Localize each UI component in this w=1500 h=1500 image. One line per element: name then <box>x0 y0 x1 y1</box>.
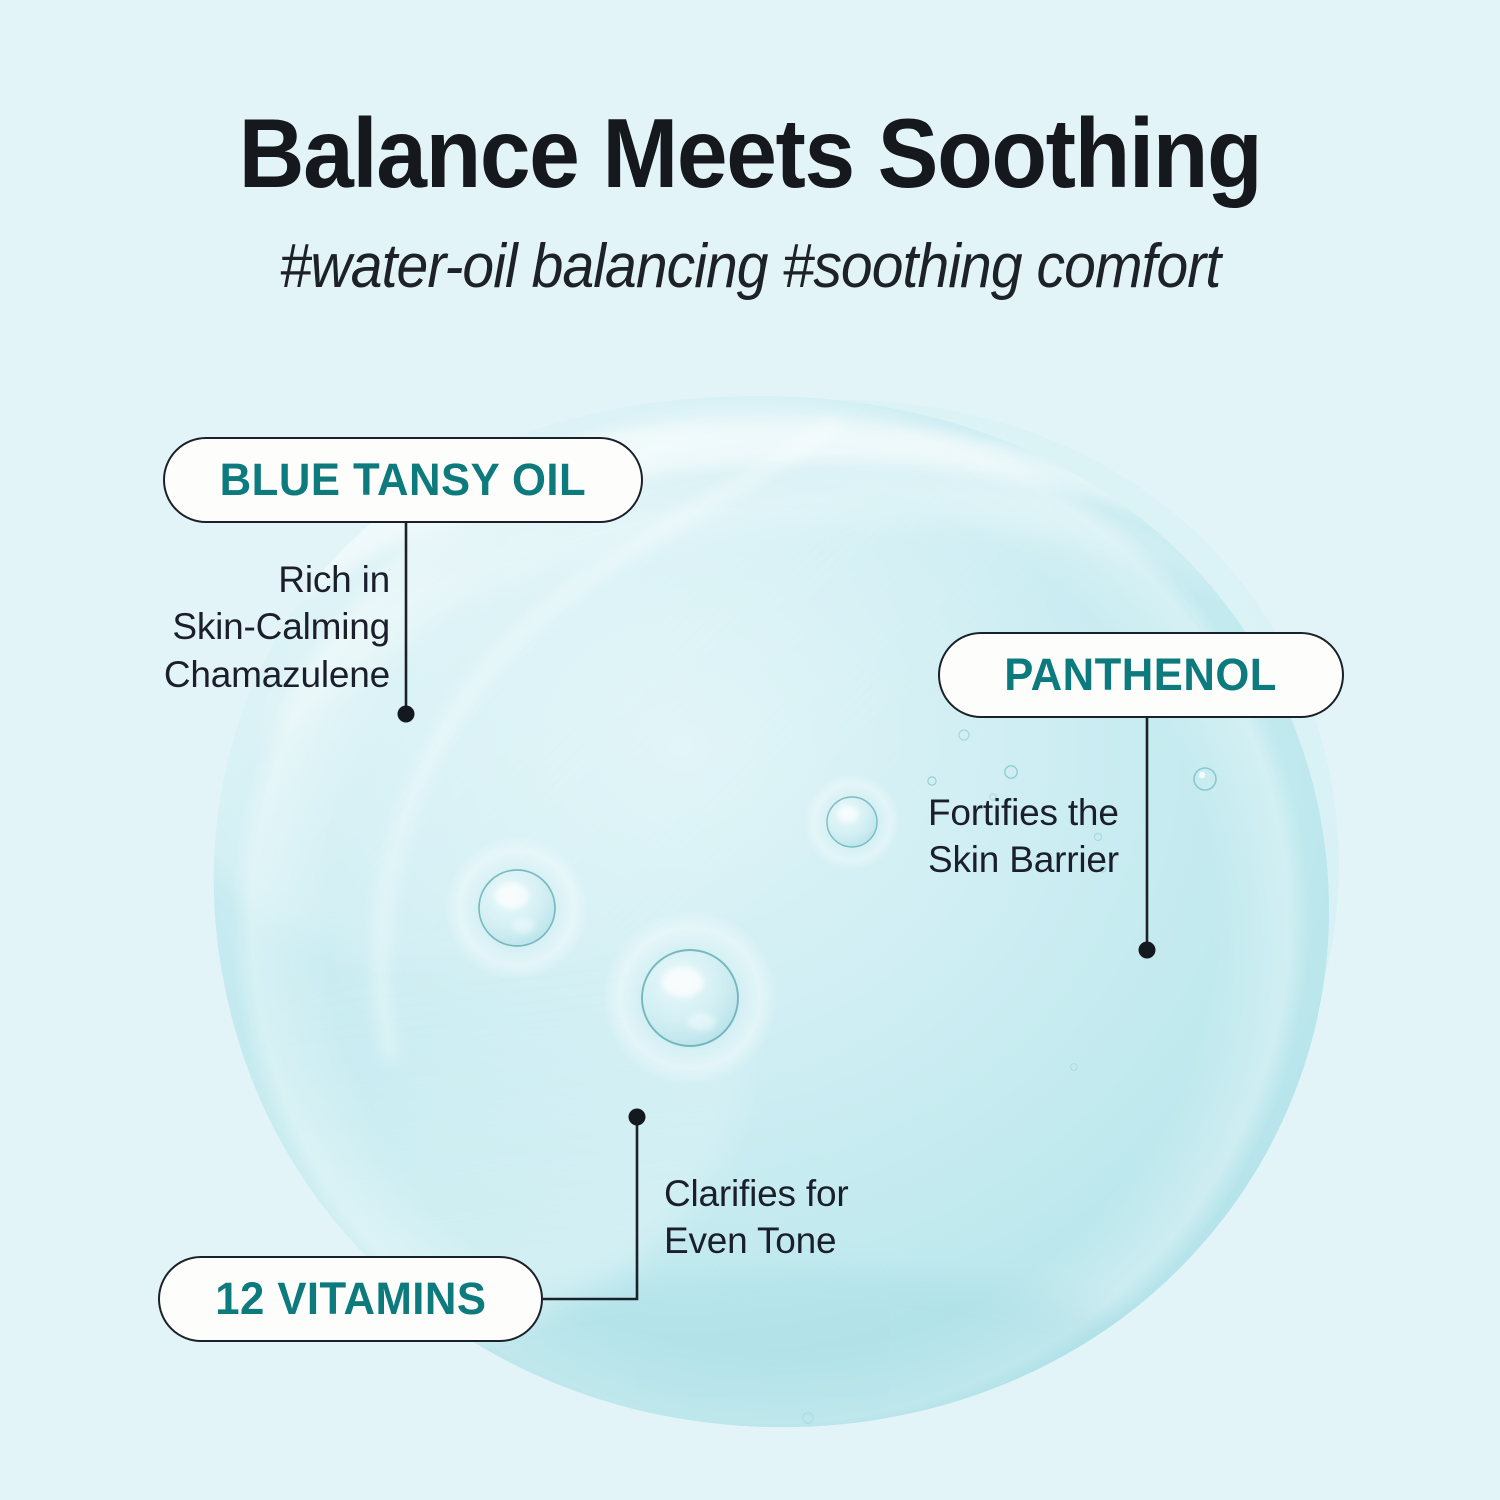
callout-pill-label: 12 VITAMINS <box>215 1273 486 1325</box>
product-ingredient-infographic: Balance Meets Soothing #water-oil balanc… <box>0 0 1500 1500</box>
callout-pill-12-vitamins[interactable]: 12 VITAMINS <box>158 1256 543 1342</box>
callout-pill-panthenol[interactable]: PANTHENOL <box>938 632 1344 718</box>
micro-bubble <box>928 777 936 785</box>
callout-description-12-vitamins: Clarifies for Even Tone <box>664 1170 964 1265</box>
connector-blue-tansy-oil <box>398 523 415 723</box>
micro-bubble <box>1194 768 1216 790</box>
gel-bubble <box>804 774 900 870</box>
micro-bubble <box>803 1413 813 1423</box>
page-title: Balance Meets Soothing <box>53 104 1448 202</box>
callout-pill-blue-tansy-oil[interactable]: BLUE TANSY OIL <box>163 437 643 523</box>
callout-description-panthenol: Fortifies the Skin Barrier <box>928 789 1228 884</box>
micro-bubble <box>959 730 969 740</box>
gel-bubble <box>602 910 778 1086</box>
callout-pill-label: PANTHENOL <box>1005 649 1278 701</box>
gel-bubble <box>445 836 589 980</box>
connector-12-vitamins <box>543 1109 646 1300</box>
micro-bubble <box>1071 1064 1078 1071</box>
page-subtitle: #water-oil balancing #soothing comfort <box>60 236 1440 298</box>
micro-bubble <box>1005 766 1017 778</box>
callout-pill-label: BLUE TANSY OIL <box>220 454 587 506</box>
callout-description-blue-tansy-oil: Rich in Skin-Calming Chamazulene <box>120 556 390 698</box>
